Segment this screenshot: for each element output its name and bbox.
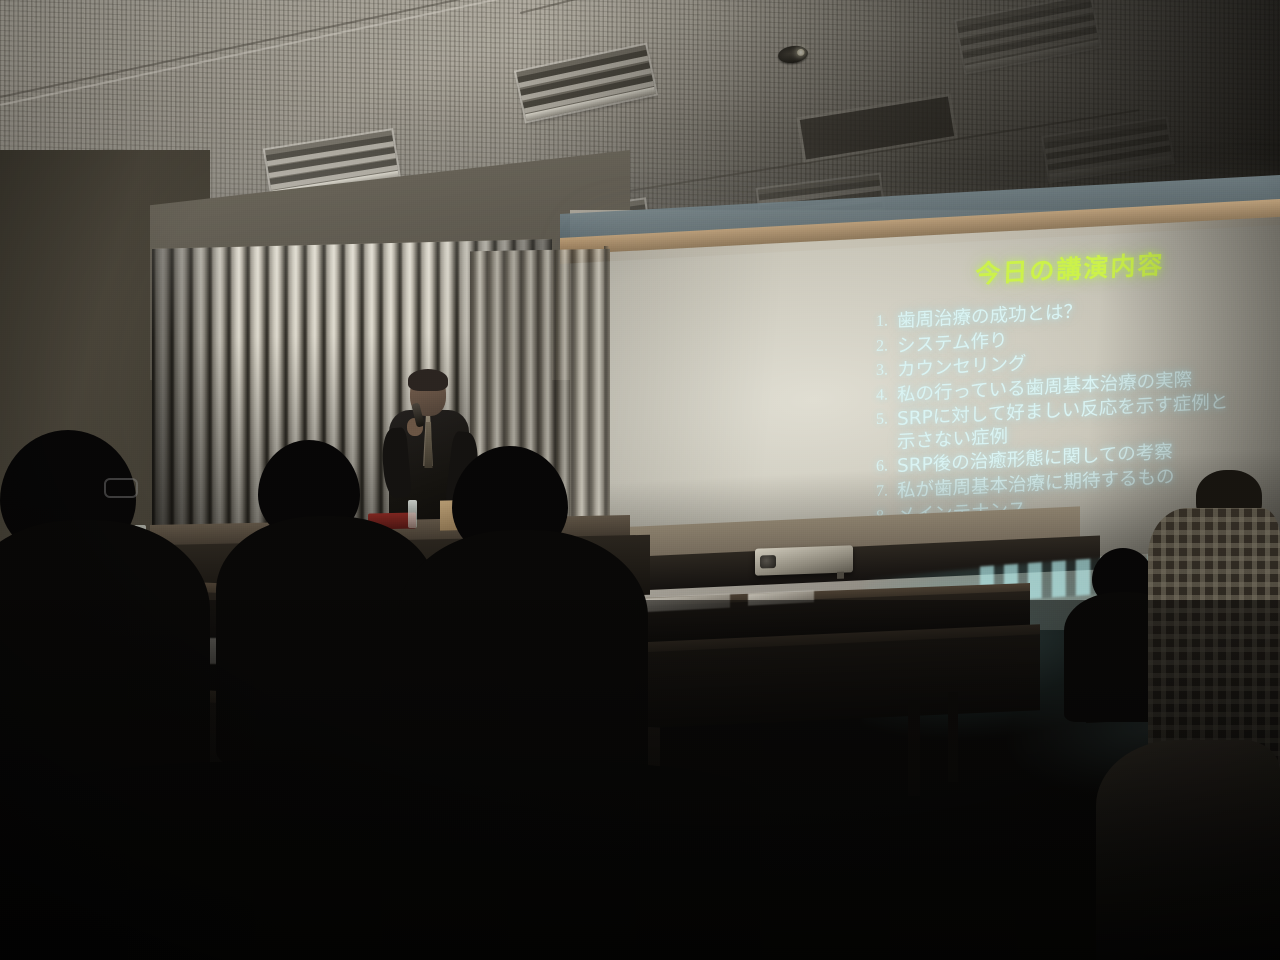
projector-lens-icon	[760, 555, 776, 569]
lecture-hall-photo: 今日の講演内容 1. 歯周治療の成功とは？ 2. システム作り 3. カウンセリ…	[0, 0, 1280, 960]
floor-darkness	[0, 600, 1280, 960]
projector-foot	[837, 572, 844, 579]
presenter-hair	[408, 369, 448, 391]
glasses-icon	[104, 478, 138, 498]
projector[interactable]	[755, 545, 853, 575]
front-table-bottle	[408, 500, 417, 528]
